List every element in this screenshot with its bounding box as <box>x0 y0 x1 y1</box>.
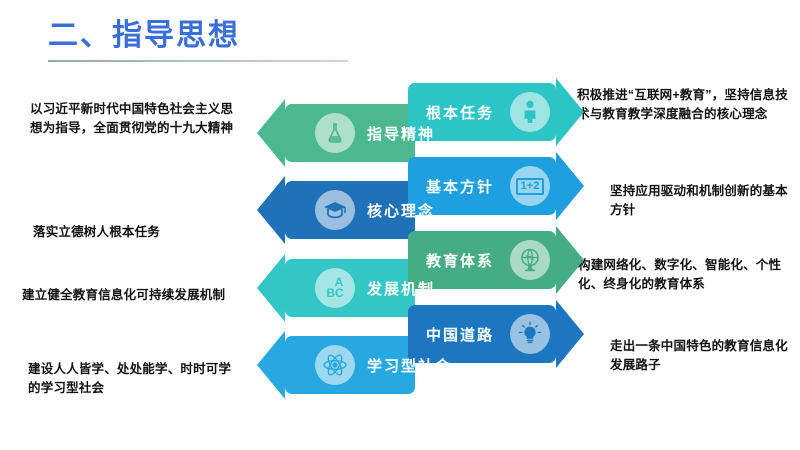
arrow-left-2[interactable]: 核心理念 <box>285 181 415 239</box>
right-note-2: 坚持应用驱动和机制创新的基本方针 <box>610 182 790 221</box>
arrow-left-3-head <box>257 254 285 322</box>
arrow-right-3-head <box>556 226 584 294</box>
graduation-cap-icon <box>315 190 355 230</box>
arrow-right-2-label: 基本方针 <box>426 176 494 197</box>
arrow-right-4-label: 中国道路 <box>426 324 494 345</box>
right-note-4: 走出一条中国特色的教育信息化发展路子 <box>610 337 795 376</box>
title-block: 二、指导思想 <box>48 18 358 62</box>
guiding-ideology-diagram: 以习近平新时代中国特色社会主义思想为指导，全面贯彻党的十九大精神 落实立德树人根… <box>0 78 800 450</box>
arrow-right-1-label: 根本任务 <box>426 102 494 123</box>
arrow-right-2-head <box>556 152 584 220</box>
arrow-right-1-head <box>556 78 584 146</box>
arrow-left-2-label: 核心理念 <box>367 200 435 221</box>
lightbulb-icon <box>510 314 550 354</box>
abc-icon: A BC <box>315 268 355 308</box>
left-note-2: 落实立德树人根本任务 <box>33 223 248 242</box>
arrow-right-4-head <box>556 300 584 368</box>
page-title: 二、指导思想 <box>48 18 358 54</box>
arrow-left-4-label: 学习型社会 <box>367 355 452 376</box>
right-note-3: 构建网络化、数字化、智能化、个性化、终身化的教育体系 <box>578 256 793 295</box>
right-note-1: 积极推进“互联网+教育”，坚持信息技术与教育教学深度融合的核心理念 <box>577 86 792 125</box>
left-note-4: 建设人人皆学、处处能学、时时可学的学习型社会 <box>28 360 233 399</box>
arrow-left-1-label: 指导精神 <box>367 123 435 144</box>
atom-icon <box>315 345 355 385</box>
person-icon <box>510 92 550 132</box>
arrow-left-4[interactable]: 学习型社会 <box>285 336 415 394</box>
calculator-icon: 1+2 <box>510 166 550 206</box>
globe-icon <box>510 240 550 280</box>
arrow-left-3[interactable]: A BC 发展机制 <box>285 259 415 317</box>
arrow-left-1[interactable]: 指导精神 <box>285 104 415 162</box>
arrow-left-4-head <box>257 331 285 399</box>
arrow-right-3-label: 教育体系 <box>426 250 494 271</box>
flask-icon <box>315 113 355 153</box>
arrow-left-3-label: 发展机制 <box>367 278 435 299</box>
arrow-left-2-head <box>257 176 285 244</box>
left-note-1: 以习近平新时代中国特色社会主义思想为指导，全面贯彻党的十九大精神 <box>30 100 240 139</box>
left-note-3: 建立健全教育信息化可持续发展机制 <box>22 286 247 305</box>
arrow-left-1-head <box>257 99 285 167</box>
title-underline <box>48 60 348 62</box>
